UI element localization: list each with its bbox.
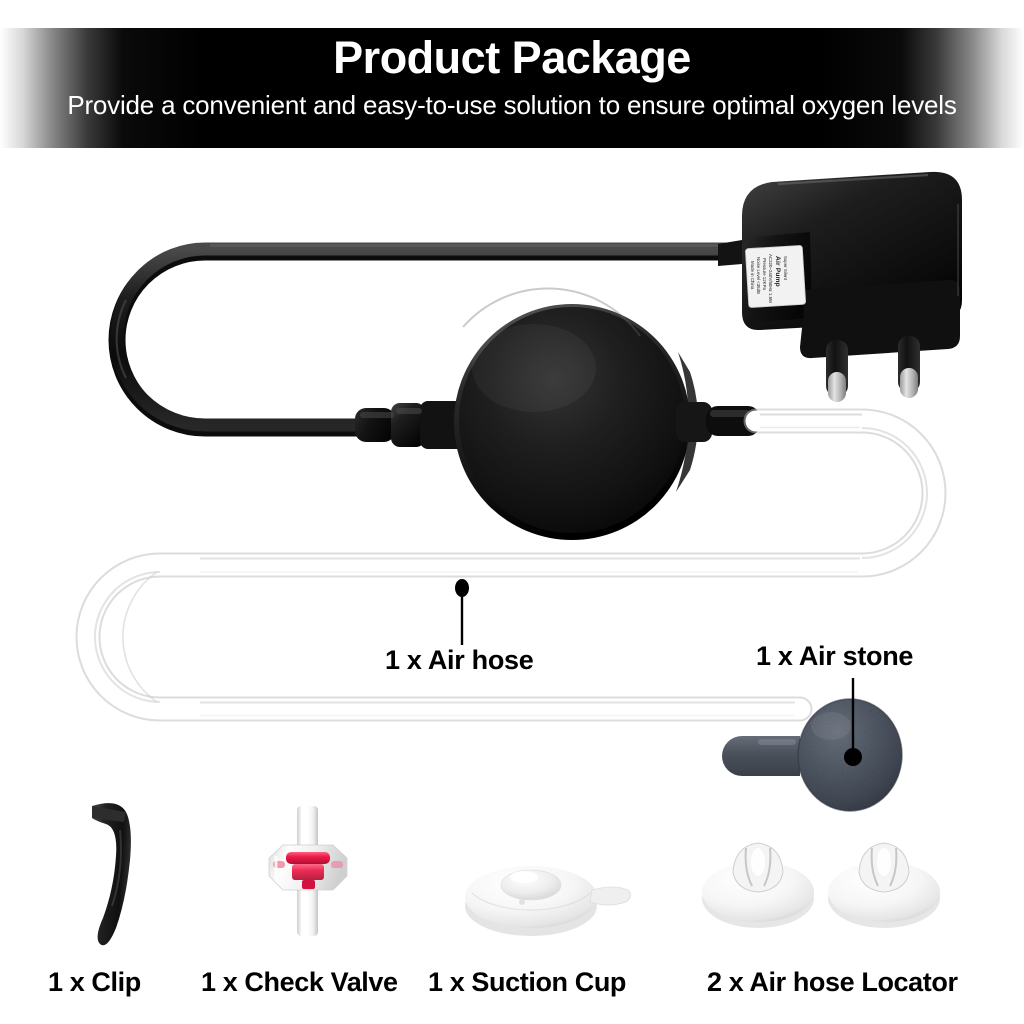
- callout-label-air-stone: 1 x Air stone: [756, 641, 913, 672]
- power-cable: [117, 246, 760, 429]
- page-subtitle: Provide a convenient and easy-to-use sol…: [0, 90, 1024, 121]
- callout-label-air-hose: 1 x Air hose: [385, 645, 533, 676]
- air-stone: [722, 699, 902, 811]
- adapter-label-line6: Made in China: [750, 261, 755, 289]
- accessory-clip: [92, 803, 131, 945]
- adapter-label-line5: Noise Level <35dB: [756, 257, 761, 294]
- accessory-hose-locator-2: [828, 843, 940, 928]
- accessory-check-valve: [269, 806, 347, 936]
- cable-connector: [355, 401, 466, 449]
- adapter-label-line1: Super Silent: [783, 256, 788, 280]
- header-banner: Product Package Provide a convenient and…: [0, 28, 1024, 148]
- adapter-label-brand: Air Pump: [773, 256, 781, 287]
- accessory-label-clip: 1 x Clip: [48, 967, 141, 998]
- adapter-label-line3: AC220~240V/50Hz 1.5W: [768, 254, 773, 303]
- product-package-infographic: Product Package Provide a convenient and…: [0, 0, 1024, 1024]
- accessory-label-suction-cup: 1 x Suction Cup: [428, 967, 626, 998]
- accessory-suction-cup: [465, 866, 631, 936]
- adapter-spec-label: Super Silent Air Pump AC220~240V/50Hz 1.…: [752, 252, 802, 302]
- accessory-label-check-valve: 1 x Check Valve: [201, 967, 398, 998]
- page-title: Product Package: [0, 34, 1024, 81]
- adapter-label-line4: Pressure 12KPa: [762, 258, 767, 290]
- product-illustration: [0, 0, 1024, 1024]
- accessory-hose-locator-1: [702, 843, 814, 928]
- air-pump-body: [454, 289, 760, 540]
- accessory-label-hose-locator: 2 x Air hose Locator: [707, 967, 958, 998]
